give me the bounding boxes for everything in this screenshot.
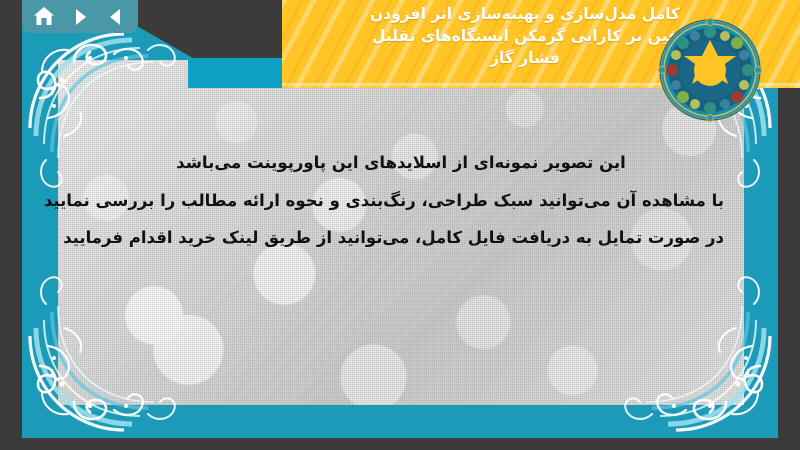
home-icon <box>33 6 55 27</box>
body-line-2: با مشاهده آن می‌توانید سبک طراحی، رنگ‌بن… <box>78 182 724 220</box>
next-slide-button[interactable] <box>69 6 91 28</box>
home-button[interactable] <box>33 6 55 28</box>
triangle-left-icon <box>106 7 126 27</box>
triangle-right-icon <box>70 7 90 27</box>
body-line-1: این تصویر نمونه‌ای از اسلایدهای این پاور… <box>78 144 724 182</box>
slide-viewer: این تصویر نمونه‌ای از اسلایدهای این پاور… <box>0 0 800 450</box>
body-line-3: در صورت تمایل به دریافت فایل کامل، می‌تو… <box>78 219 724 257</box>
slide-body-text: این تصویر نمونه‌ای از اسلایدهای این پاور… <box>78 144 724 257</box>
previous-slide-button[interactable] <box>105 6 127 28</box>
navigation-toolbar <box>22 0 138 33</box>
persian-medallion-icon <box>658 18 762 122</box>
